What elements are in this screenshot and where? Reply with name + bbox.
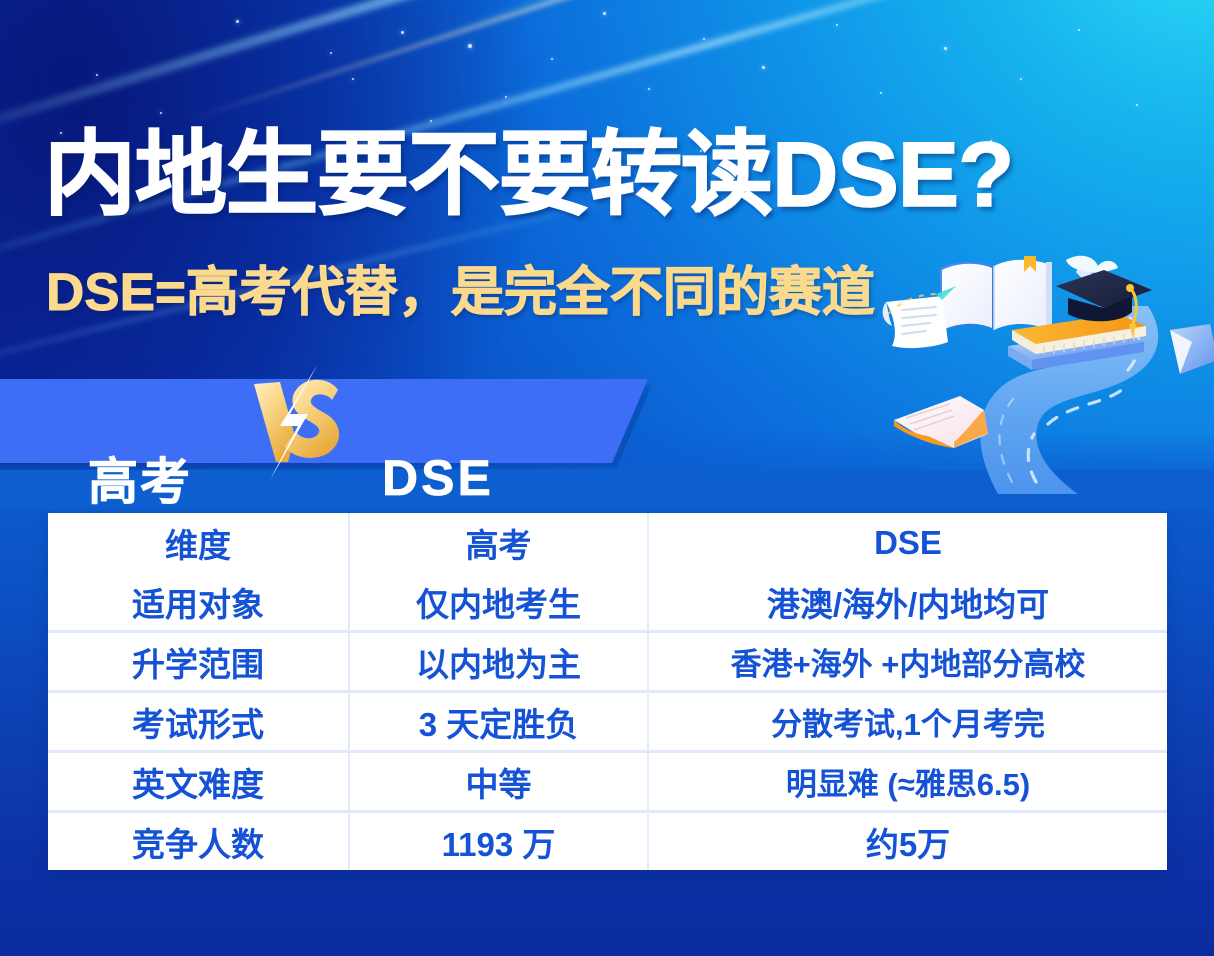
- small-open-book-icon: [894, 396, 988, 448]
- cell-gaokao: 以内地为主: [349, 632, 648, 692]
- table-row: 竞争人数 1193 万 约5万: [48, 812, 1167, 871]
- cell-gaokao: 1193 万: [349, 812, 648, 871]
- cell-dse: 明显难 (≈雅思6.5): [648, 752, 1167, 812]
- cell-dse: 约5万: [648, 812, 1167, 871]
- table-row: 英文难度 中等 明显难 (≈雅思6.5): [48, 752, 1167, 812]
- dove-icon: [1066, 256, 1118, 273]
- page-title: 内地生要不要转读DSE?: [44, 129, 1013, 221]
- cell-dimension: 升学范围: [48, 632, 349, 692]
- cell-dse: 港澳/海外/内地均可: [648, 573, 1167, 632]
- cell-gaokao: 3 天定胜负: [349, 692, 648, 752]
- table-row: 适用对象 仅内地考生 港澳/海外/内地均可: [48, 573, 1167, 632]
- table-header-dse: DSE: [648, 513, 1167, 573]
- table-row: 考试形式 3 天定胜负 分散考试,1个月考完: [48, 692, 1167, 752]
- open-book-icon: [940, 256, 1052, 332]
- poster-canvas: 内地生要不要转读DSE? DSE=高考代替，是完全不同的赛道 高考 DSE: [0, 0, 1214, 956]
- comparison-table: 维度 高考 DSE 适用对象 仅内地考生 港澳/海外/内地均可 升学范围 以内地…: [48, 513, 1167, 870]
- table-header-row: 维度 高考 DSE: [48, 513, 1167, 573]
- folded-page-icon: [1170, 324, 1214, 374]
- cell-gaokao: 仅内地考生: [349, 573, 648, 632]
- cell-dse: 香港+海外 +内地部分高校: [648, 632, 1167, 692]
- cell-dimension: 适用对象: [48, 573, 349, 632]
- cell-dimension: 英文难度: [48, 752, 349, 812]
- scroll-paper-icon: [883, 296, 948, 348]
- cell-dse: 分散考试,1个月考完: [648, 692, 1167, 752]
- vs-lightning-icon: [240, 364, 360, 480]
- cell-dimension: 考试形式: [48, 692, 349, 752]
- table-header-gaokao: 高考: [349, 513, 648, 573]
- cell-dimension: 竞争人数: [48, 812, 349, 871]
- vs-left-label: 高考: [88, 442, 192, 514]
- vs-right-label: DSE: [382, 449, 494, 507]
- education-illustration: [880, 238, 1214, 500]
- table-header-dimension: 维度: [48, 513, 349, 573]
- table-row: 升学范围 以内地为主 香港+海外 +内地部分高校: [48, 632, 1167, 692]
- cell-gaokao: 中等: [349, 752, 648, 812]
- page-subtitle: DSE=高考代替，是完全不同的赛道: [46, 266, 875, 319]
